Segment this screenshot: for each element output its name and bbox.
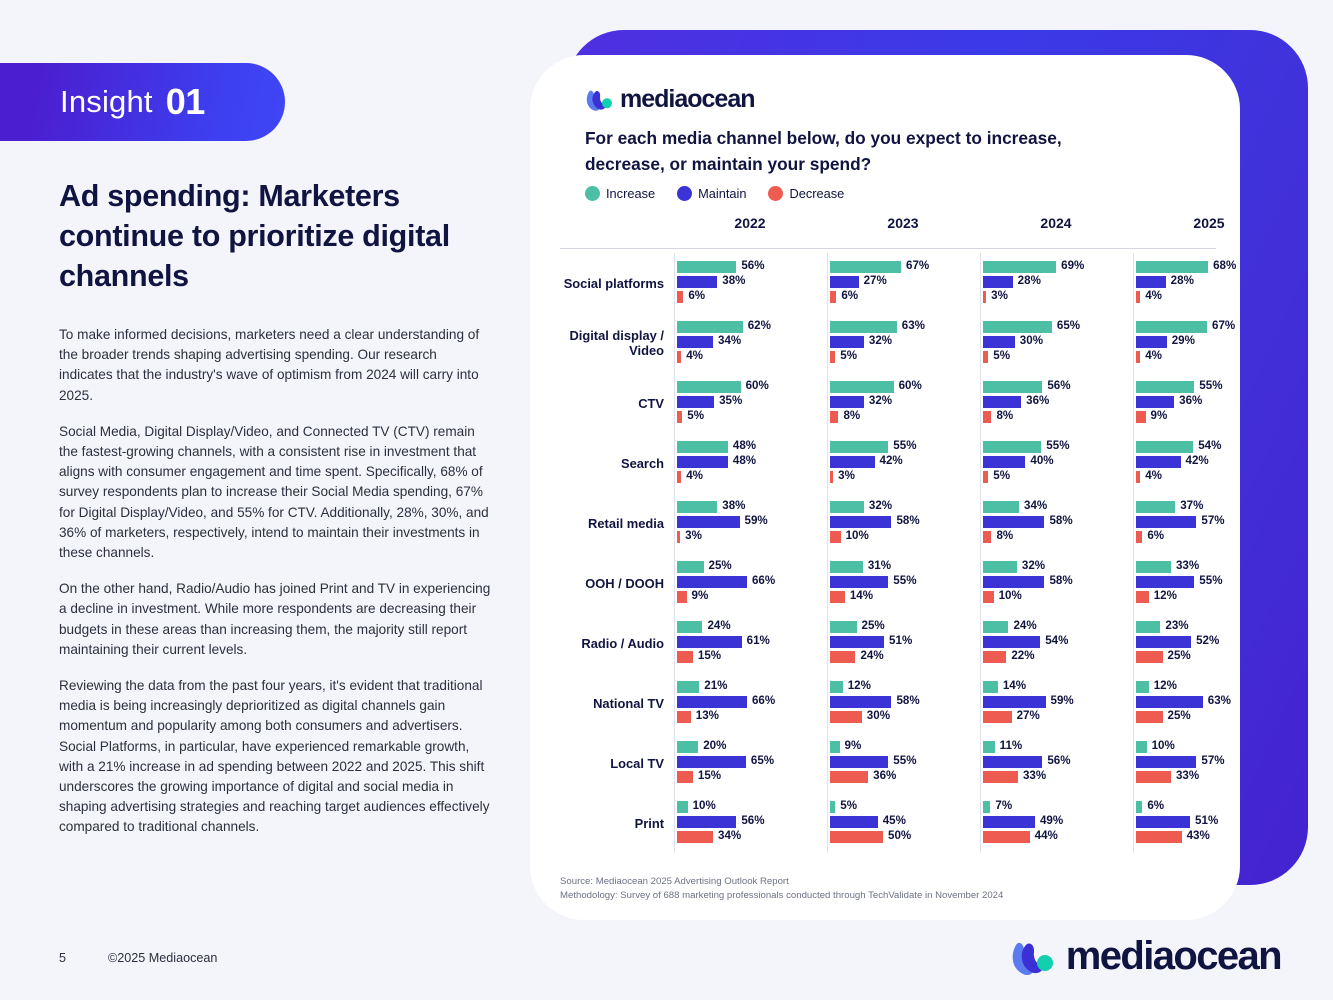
bar-group-2025: 10%57%33% bbox=[1133, 733, 1285, 793]
bar-maintain[interactable] bbox=[830, 276, 859, 288]
bar-decrease[interactable] bbox=[830, 711, 862, 723]
bar-value-label: 3% bbox=[685, 529, 702, 542]
bar-value-label: 34% bbox=[718, 334, 741, 347]
bar-value-label: 68% bbox=[1213, 259, 1236, 272]
bar-value-label: 57% bbox=[1201, 754, 1224, 767]
bar-value-label: 28% bbox=[1171, 274, 1194, 287]
bar-increase[interactable] bbox=[677, 621, 702, 633]
bar-decrease[interactable] bbox=[830, 651, 855, 663]
bar-increase[interactable] bbox=[983, 261, 1056, 273]
bar-value-label: 54% bbox=[1045, 634, 1068, 647]
paragraph-3: On the other hand, Radio/Audio has joine… bbox=[59, 579, 491, 660]
bar-group-2022: 38%59%3% bbox=[674, 493, 826, 553]
bar-value-label: 48% bbox=[733, 439, 756, 452]
bar-group-2024: 69%28%3% bbox=[980, 253, 1132, 313]
bar-group-2023: 63%32%5% bbox=[827, 313, 979, 373]
bar-value-label: 66% bbox=[752, 694, 775, 707]
bar-maintain[interactable] bbox=[677, 696, 747, 708]
bar-value-label: 15% bbox=[698, 769, 721, 782]
bar-increase[interactable] bbox=[1136, 561, 1171, 573]
bar-maintain[interactable] bbox=[983, 396, 1021, 408]
chart-source-note: Source: Mediaocean 2025 Advertising Outl… bbox=[560, 875, 1180, 903]
bar-value-label: 27% bbox=[1017, 709, 1040, 722]
bar-value-label: 7% bbox=[995, 799, 1012, 812]
chart-row: National TV21%66%13%12%58%30%14%59%27%12… bbox=[546, 673, 1224, 733]
bar-increase[interactable] bbox=[830, 801, 835, 813]
bar-group-2022: 62%34%4% bbox=[674, 313, 826, 373]
bar-value-label: 5% bbox=[840, 349, 857, 362]
bar-increase[interactable] bbox=[830, 441, 888, 453]
bar-value-label: 33% bbox=[1176, 559, 1199, 572]
bar-value-label: 55% bbox=[1046, 439, 1069, 452]
bar-decrease[interactable] bbox=[983, 291, 986, 303]
chart-row: Local TV20%65%15%9%55%36%11%56%33%10%57%… bbox=[546, 733, 1224, 793]
bar-increase[interactable] bbox=[1136, 801, 1142, 813]
page-number: 5 bbox=[59, 951, 66, 965]
bar-group-2022: 60%35%5% bbox=[674, 373, 826, 433]
chart-card: mediaocean For each media channel below,… bbox=[530, 55, 1240, 920]
bar-decrease[interactable] bbox=[983, 351, 988, 363]
bar-value-label: 51% bbox=[1195, 814, 1218, 827]
footer-brand-logo: mediaocean bbox=[1010, 934, 1281, 979]
bar-value-label: 42% bbox=[880, 454, 903, 467]
bar-value-label: 23% bbox=[1165, 619, 1188, 632]
bar-increase[interactable] bbox=[677, 801, 688, 813]
bar-increase[interactable] bbox=[830, 741, 840, 753]
bar-decrease[interactable] bbox=[830, 591, 845, 603]
bar-value-label: 24% bbox=[860, 649, 883, 662]
bar-value-label: 59% bbox=[1051, 694, 1074, 707]
year-label-2025: 2025 bbox=[1133, 215, 1285, 231]
bar-increase[interactable] bbox=[1136, 501, 1175, 513]
bar-increase[interactable] bbox=[830, 501, 864, 513]
bar-maintain[interactable] bbox=[983, 336, 1015, 348]
bar-value-label: 5% bbox=[993, 469, 1010, 482]
bar-value-label: 4% bbox=[686, 469, 703, 482]
bar-value-label: 57% bbox=[1201, 514, 1224, 527]
bar-decrease[interactable] bbox=[677, 651, 693, 663]
bar-value-label: 40% bbox=[1030, 454, 1053, 467]
bar-decrease[interactable] bbox=[1136, 831, 1182, 843]
bar-group-2025: 54%42%4% bbox=[1133, 433, 1285, 493]
chart-question: For each media channel below, do you exp… bbox=[585, 125, 1105, 177]
bar-value-label: 56% bbox=[741, 814, 764, 827]
bar-value-label: 12% bbox=[1154, 679, 1177, 692]
bar-maintain[interactable] bbox=[677, 396, 714, 408]
chart-row: Digital display / Video62%34%4%63%32%5%6… bbox=[546, 313, 1224, 373]
bar-maintain[interactable] bbox=[830, 336, 864, 348]
bar-decrease[interactable] bbox=[983, 471, 988, 483]
bar-value-label: 12% bbox=[848, 679, 871, 692]
legend-item-increase[interactable]: Increase bbox=[585, 186, 655, 201]
bar-value-label: 49% bbox=[1040, 814, 1063, 827]
bar-decrease[interactable] bbox=[1136, 411, 1146, 423]
bar-maintain[interactable] bbox=[983, 516, 1044, 528]
bar-value-label: 58% bbox=[896, 514, 919, 527]
legend-swatch-maintain-icon bbox=[677, 186, 692, 201]
bar-value-label: 24% bbox=[1013, 619, 1036, 632]
bar-group-2024: 34%58%8% bbox=[980, 493, 1132, 553]
bar-decrease[interactable] bbox=[1136, 651, 1163, 663]
bar-value-label: 20% bbox=[703, 739, 726, 752]
bar-value-label: 32% bbox=[869, 394, 892, 407]
legend-item-decrease[interactable]: Decrease bbox=[768, 186, 844, 201]
bar-increase[interactable] bbox=[1136, 681, 1149, 693]
page-title: Ad spending: Marketers continue to prior… bbox=[59, 176, 499, 296]
bar-value-label: 21% bbox=[704, 679, 727, 692]
bar-value-label: 29% bbox=[1172, 334, 1195, 347]
bar-decrease[interactable] bbox=[677, 351, 681, 363]
bar-increase[interactable] bbox=[830, 321, 897, 333]
bar-decrease[interactable] bbox=[830, 471, 833, 483]
bar-group-2024: 32%58%10% bbox=[980, 553, 1132, 613]
bar-maintain[interactable] bbox=[830, 396, 864, 408]
bar-maintain[interactable] bbox=[1136, 576, 1194, 588]
bar-decrease[interactable] bbox=[1136, 291, 1140, 303]
chart-row: Radio / Audio24%61%15%25%51%24%24%54%22%… bbox=[546, 613, 1224, 673]
bar-maintain[interactable] bbox=[983, 456, 1025, 468]
bar-value-label: 5% bbox=[993, 349, 1010, 362]
year-header-row: 2022202320242025 bbox=[546, 215, 1224, 245]
bar-maintain[interactable] bbox=[1136, 276, 1166, 288]
bar-value-label: 15% bbox=[698, 649, 721, 662]
bar-group-2022: 10%56%34% bbox=[674, 793, 826, 853]
bar-group-2024: 24%54%22% bbox=[980, 613, 1132, 673]
category-label: Social platforms bbox=[546, 253, 664, 313]
bar-value-label: 33% bbox=[1023, 769, 1046, 782]
bar-decrease[interactable] bbox=[677, 771, 693, 783]
bar-increase[interactable] bbox=[677, 261, 736, 273]
chart-row: Print10%56%34%5%45%50%7%49%44%6%51%43% bbox=[546, 793, 1224, 853]
legend-item-maintain[interactable]: Maintain bbox=[677, 186, 746, 201]
bar-value-label: 9% bbox=[845, 739, 862, 752]
bar-decrease[interactable] bbox=[983, 531, 991, 543]
bar-value-label: 63% bbox=[902, 319, 925, 332]
bar-group-2022: 56%38%6% bbox=[674, 253, 826, 313]
bar-group-2025: 68%28%4% bbox=[1133, 253, 1285, 313]
bar-decrease[interactable] bbox=[1136, 531, 1142, 543]
bar-value-label: 30% bbox=[867, 709, 890, 722]
footer: 5 ©2025 Mediaocean bbox=[59, 951, 217, 965]
bar-value-label: 55% bbox=[893, 754, 916, 767]
bar-maintain[interactable] bbox=[1136, 456, 1181, 468]
bar-maintain[interactable] bbox=[830, 696, 891, 708]
bar-increase[interactable] bbox=[677, 501, 717, 513]
bar-increase[interactable] bbox=[983, 741, 995, 753]
bar-increase[interactable] bbox=[830, 561, 863, 573]
bar-value-label: 4% bbox=[1145, 289, 1162, 302]
chart-row: Search48%48%4%55%42%3%55%40%5%54%42%4% bbox=[546, 433, 1224, 493]
bar-maintain[interactable] bbox=[1136, 336, 1167, 348]
bar-increase[interactable] bbox=[677, 561, 704, 573]
bar-value-label: 25% bbox=[709, 559, 732, 572]
bar-maintain[interactable] bbox=[830, 516, 891, 528]
bar-maintain[interactable] bbox=[983, 576, 1044, 588]
bar-value-label: 24% bbox=[707, 619, 730, 632]
insight-number: 01 bbox=[166, 81, 205, 123]
bar-value-label: 36% bbox=[873, 769, 896, 782]
bar-decrease[interactable] bbox=[983, 411, 991, 423]
bar-value-label: 10% bbox=[1152, 739, 1175, 752]
bar-value-label: 5% bbox=[840, 799, 857, 812]
bar-group-2024: 65%30%5% bbox=[980, 313, 1132, 373]
bar-increase[interactable] bbox=[983, 801, 990, 813]
bar-value-label: 55% bbox=[893, 439, 916, 452]
bar-value-label: 12% bbox=[1154, 589, 1177, 602]
category-label: Print bbox=[546, 793, 664, 853]
bar-value-label: 55% bbox=[1199, 574, 1222, 587]
bar-decrease[interactable] bbox=[677, 531, 680, 543]
bar-value-label: 38% bbox=[722, 274, 745, 287]
bar-value-label: 6% bbox=[1147, 529, 1164, 542]
category-label: Retail media bbox=[546, 493, 664, 553]
bar-increase[interactable] bbox=[983, 381, 1042, 393]
chart-legend: IncreaseMaintainDecrease bbox=[585, 186, 844, 201]
bar-value-label: 62% bbox=[748, 319, 771, 332]
bar-maintain[interactable] bbox=[1136, 696, 1203, 708]
bar-value-label: 52% bbox=[1196, 634, 1219, 647]
bar-value-label: 14% bbox=[1003, 679, 1026, 692]
bar-increase[interactable] bbox=[1136, 741, 1147, 753]
category-label: Search bbox=[546, 433, 664, 493]
bar-value-label: 48% bbox=[733, 454, 756, 467]
bar-decrease[interactable] bbox=[983, 831, 1030, 843]
bar-maintain[interactable] bbox=[1136, 636, 1191, 648]
bar-decrease[interactable] bbox=[830, 531, 841, 543]
bar-decrease[interactable] bbox=[1136, 591, 1149, 603]
bar-maintain[interactable] bbox=[677, 516, 740, 528]
bar-decrease[interactable] bbox=[1136, 711, 1163, 723]
bar-increase[interactable] bbox=[983, 321, 1052, 333]
bar-group-2024: 11%56%33% bbox=[980, 733, 1132, 793]
bar-value-label: 25% bbox=[862, 619, 885, 632]
bar-increase[interactable] bbox=[830, 381, 894, 393]
card-brand-logo: mediaocean bbox=[585, 85, 755, 114]
bar-increase[interactable] bbox=[1136, 321, 1207, 333]
bar-decrease[interactable] bbox=[830, 831, 883, 843]
bar-value-label: 56% bbox=[741, 259, 764, 272]
bar-decrease[interactable] bbox=[677, 471, 681, 483]
bar-decrease[interactable] bbox=[830, 291, 836, 303]
bar-increase[interactable] bbox=[677, 321, 743, 333]
bar-maintain[interactable] bbox=[983, 756, 1042, 768]
bar-value-label: 34% bbox=[718, 829, 741, 842]
category-label: OOH / DOOH bbox=[546, 553, 664, 613]
bar-value-label: 5% bbox=[687, 409, 704, 422]
category-label: Local TV bbox=[546, 733, 664, 793]
bar-increase[interactable] bbox=[830, 261, 901, 273]
bar-maintain[interactable] bbox=[1136, 816, 1190, 828]
bar-group-2024: 7%49%44% bbox=[980, 793, 1132, 853]
card-wordmark: mediaocean bbox=[620, 85, 755, 114]
bar-value-label: 10% bbox=[999, 589, 1022, 602]
chart-row: CTV60%35%5%60%32%8%56%36%8%55%36%9% bbox=[546, 373, 1224, 433]
bar-group-2025: 67%29%4% bbox=[1133, 313, 1285, 373]
bar-maintain[interactable] bbox=[1136, 756, 1196, 768]
category-label: National TV bbox=[546, 673, 664, 733]
legend-swatch-decrease-icon bbox=[768, 186, 783, 201]
mediaocean-mark-icon bbox=[585, 87, 614, 112]
bar-value-label: 13% bbox=[696, 709, 719, 722]
paragraph-2: Social Media, Digital Display/Video, and… bbox=[59, 422, 491, 563]
bar-value-label: 58% bbox=[896, 694, 919, 707]
footer-wordmark: mediaocean bbox=[1066, 934, 1281, 979]
bar-increase[interactable] bbox=[677, 381, 741, 393]
bar-decrease[interactable] bbox=[677, 411, 682, 423]
bar-value-label: 45% bbox=[883, 814, 906, 827]
bar-maintain[interactable] bbox=[830, 816, 878, 828]
bar-decrease[interactable] bbox=[1136, 351, 1140, 363]
bar-increase[interactable] bbox=[677, 741, 698, 753]
bar-value-label: 22% bbox=[1011, 649, 1034, 662]
bar-maintain[interactable] bbox=[830, 636, 884, 648]
bar-group-2025: 6%51%43% bbox=[1133, 793, 1285, 853]
bar-value-label: 9% bbox=[692, 589, 709, 602]
bar-value-label: 65% bbox=[751, 754, 774, 767]
bar-maintain[interactable] bbox=[830, 756, 888, 768]
bar-maintain[interactable] bbox=[1136, 516, 1196, 528]
bar-value-label: 44% bbox=[1035, 829, 1058, 842]
chart-row: Social platforms56%38%6%67%27%6%69%28%3%… bbox=[546, 253, 1224, 313]
bar-value-label: 36% bbox=[1026, 394, 1049, 407]
category-label: Digital display / Video bbox=[546, 313, 664, 373]
bar-value-label: 4% bbox=[1145, 349, 1162, 362]
category-label: Radio / Audio bbox=[546, 613, 664, 673]
bar-maintain[interactable] bbox=[983, 696, 1046, 708]
bar-maintain[interactable] bbox=[677, 756, 746, 768]
bar-value-label: 58% bbox=[1049, 574, 1072, 587]
bar-maintain[interactable] bbox=[830, 576, 888, 588]
bar-maintain[interactable] bbox=[830, 456, 875, 468]
bar-value-label: 69% bbox=[1061, 259, 1084, 272]
bar-group-2025: 33%55%12% bbox=[1133, 553, 1285, 613]
bar-value-label: 58% bbox=[1049, 514, 1072, 527]
methodology-line: Methodology: Survey of 688 marketing pro… bbox=[560, 889, 1180, 903]
bar-increase[interactable] bbox=[1136, 441, 1193, 453]
bar-value-label: 4% bbox=[686, 349, 703, 362]
bar-group-2025: 12%63%25% bbox=[1133, 673, 1285, 733]
chart-rows: Social platforms56%38%6%67%27%6%69%28%3%… bbox=[546, 253, 1224, 895]
axis-rule bbox=[560, 248, 1216, 249]
bar-value-label: 56% bbox=[1047, 379, 1070, 392]
bar-increase[interactable] bbox=[830, 681, 843, 693]
bar-increase[interactable] bbox=[677, 681, 699, 693]
bar-value-label: 42% bbox=[1186, 454, 1209, 467]
bar-value-label: 54% bbox=[1198, 439, 1221, 452]
bar-value-label: 67% bbox=[906, 259, 929, 272]
bar-decrease[interactable] bbox=[1136, 771, 1171, 783]
bar-value-label: 33% bbox=[1176, 769, 1199, 782]
bar-group-2023: 60%32%8% bbox=[827, 373, 979, 433]
bar-increase[interactable] bbox=[983, 621, 1008, 633]
bar-value-label: 56% bbox=[1047, 754, 1070, 767]
bar-decrease[interactable] bbox=[677, 831, 713, 843]
bar-decrease[interactable] bbox=[677, 591, 687, 603]
legend-label: Increase bbox=[606, 186, 655, 201]
bar-group-2022: 25%66%9% bbox=[674, 553, 826, 613]
bar-decrease[interactable] bbox=[830, 351, 835, 363]
bar-group-2022: 24%61%15% bbox=[674, 613, 826, 673]
bar-value-label: 27% bbox=[864, 274, 887, 287]
bar-increase[interactable] bbox=[677, 441, 728, 453]
bar-value-label: 50% bbox=[888, 829, 911, 842]
bar-value-label: 55% bbox=[893, 574, 916, 587]
bar-decrease[interactable] bbox=[983, 711, 1012, 723]
bar-increase[interactable] bbox=[1136, 381, 1194, 393]
bar-decrease[interactable] bbox=[830, 411, 838, 423]
bar-group-2023: 32%58%10% bbox=[827, 493, 979, 553]
body-copy: To make informed decisions, marketers ne… bbox=[59, 325, 491, 838]
bar-value-label: 8% bbox=[843, 409, 860, 422]
bar-decrease[interactable] bbox=[983, 591, 994, 603]
bar-maintain[interactable] bbox=[677, 576, 747, 588]
bar-group-2024: 14%59%27% bbox=[980, 673, 1132, 733]
bar-increase[interactable] bbox=[983, 441, 1041, 453]
bar-maintain[interactable] bbox=[983, 636, 1040, 648]
bar-value-label: 34% bbox=[1024, 499, 1047, 512]
bar-value-label: 63% bbox=[1208, 694, 1231, 707]
bar-value-label: 25% bbox=[1168, 649, 1191, 662]
year-label-2023: 2023 bbox=[827, 215, 979, 231]
paragraph-1: To make informed decisions, marketers ne… bbox=[59, 325, 491, 406]
bar-maintain[interactable] bbox=[983, 276, 1013, 288]
bar-group-2023: 12%58%30% bbox=[827, 673, 979, 733]
bar-value-label: 14% bbox=[850, 589, 873, 602]
bar-decrease[interactable] bbox=[677, 711, 691, 723]
bar-group-2025: 23%52%25% bbox=[1133, 613, 1285, 673]
bar-maintain[interactable] bbox=[1136, 396, 1174, 408]
bar-decrease[interactable] bbox=[830, 771, 868, 783]
bar-increase[interactable] bbox=[830, 621, 857, 633]
bar-decrease[interactable] bbox=[677, 291, 683, 303]
bar-decrease[interactable] bbox=[983, 651, 1006, 663]
bar-decrease[interactable] bbox=[1136, 471, 1140, 483]
legend-label: Maintain bbox=[698, 186, 746, 201]
bar-maintain[interactable] bbox=[677, 636, 742, 648]
bar-value-label: 61% bbox=[747, 634, 770, 647]
bar-value-label: 28% bbox=[1018, 274, 1041, 287]
bar-group-2023: 25%51%24% bbox=[827, 613, 979, 673]
bar-maintain[interactable] bbox=[677, 276, 717, 288]
bar-value-label: 6% bbox=[841, 289, 858, 302]
bar-increase[interactable] bbox=[983, 501, 1019, 513]
bar-increase[interactable] bbox=[1136, 621, 1160, 633]
bar-value-label: 43% bbox=[1187, 829, 1210, 842]
bar-maintain[interactable] bbox=[677, 816, 736, 828]
bar-increase[interactable] bbox=[983, 681, 998, 693]
bar-increase[interactable] bbox=[1136, 261, 1208, 273]
bar-decrease[interactable] bbox=[983, 771, 1018, 783]
bar-value-label: 10% bbox=[846, 529, 869, 542]
insight-label: Insight bbox=[60, 84, 153, 120]
legend-label: Decrease bbox=[789, 186, 844, 201]
bar-maintain[interactable] bbox=[677, 336, 713, 348]
bar-value-label: 6% bbox=[688, 289, 705, 302]
bar-value-label: 60% bbox=[746, 379, 769, 392]
bar-value-label: 3% bbox=[838, 469, 855, 482]
bar-value-label: 36% bbox=[1179, 394, 1202, 407]
legend-swatch-increase-icon bbox=[585, 186, 600, 201]
bar-increase[interactable] bbox=[983, 561, 1017, 573]
bar-value-label: 35% bbox=[719, 394, 742, 407]
bar-group-2025: 55%36%9% bbox=[1133, 373, 1285, 433]
bar-value-label: 6% bbox=[1147, 799, 1164, 812]
bar-maintain[interactable] bbox=[677, 456, 728, 468]
bar-value-label: 4% bbox=[1145, 469, 1162, 482]
bar-maintain[interactable] bbox=[983, 816, 1035, 828]
source-line: Source: Mediaocean 2025 Advertising Outl… bbox=[560, 875, 1180, 889]
bar-value-label: 66% bbox=[752, 574, 775, 587]
